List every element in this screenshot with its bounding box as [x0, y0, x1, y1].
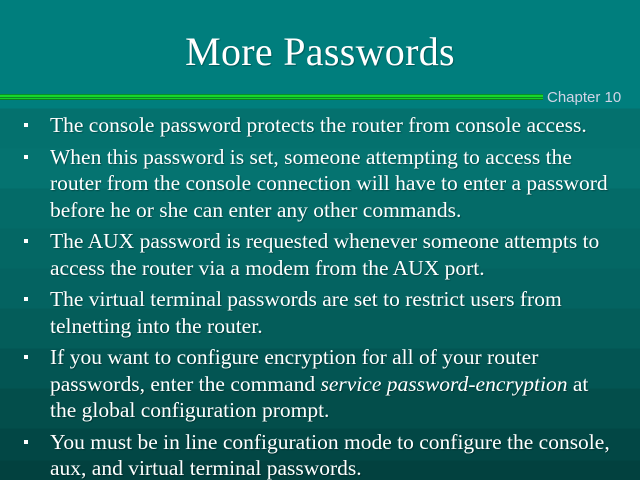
- bullet-marker-icon: [24, 297, 28, 301]
- bullet-text: If you want to configure encryption for …: [50, 344, 610, 424]
- bullet-list: The console password protects the router…: [0, 112, 640, 480]
- header-divider-row: Chapter 10: [0, 92, 640, 112]
- title-area: More Passwords: [0, 28, 640, 76]
- presentation-slide: More Passwords Chapter 10 The console pa…: [0, 0, 640, 480]
- list-item: The virtual terminal passwords are set t…: [0, 286, 640, 339]
- bullet-text: You must be in line configuration mode t…: [50, 429, 610, 480]
- bullet-marker-icon: [24, 155, 28, 159]
- list-item: The AUX password is requested whenever s…: [0, 228, 640, 281]
- bullet-marker-icon: [24, 440, 28, 444]
- cli-command-emphasis: service password-encryption: [320, 372, 567, 396]
- bullet-marker-icon: [24, 355, 28, 359]
- list-item: If you want to configure encryption for …: [0, 344, 640, 424]
- page-title: More Passwords: [0, 28, 640, 76]
- chapter-label: Chapter 10: [547, 88, 621, 108]
- green-divider-rule: [0, 94, 543, 100]
- bullet-text: The virtual terminal passwords are set t…: [50, 286, 610, 339]
- list-item: When this password is set, someone attem…: [0, 144, 640, 224]
- bullet-text: The console password protects the router…: [50, 112, 610, 139]
- bullet-text: When this password is set, someone attem…: [50, 144, 610, 224]
- bullet-marker-icon: [24, 239, 28, 243]
- list-item: The console password protects the router…: [0, 112, 640, 139]
- bullet-text: The AUX password is requested whenever s…: [50, 228, 610, 281]
- bullet-marker-icon: [24, 123, 28, 127]
- list-item: You must be in line configuration mode t…: [0, 429, 640, 480]
